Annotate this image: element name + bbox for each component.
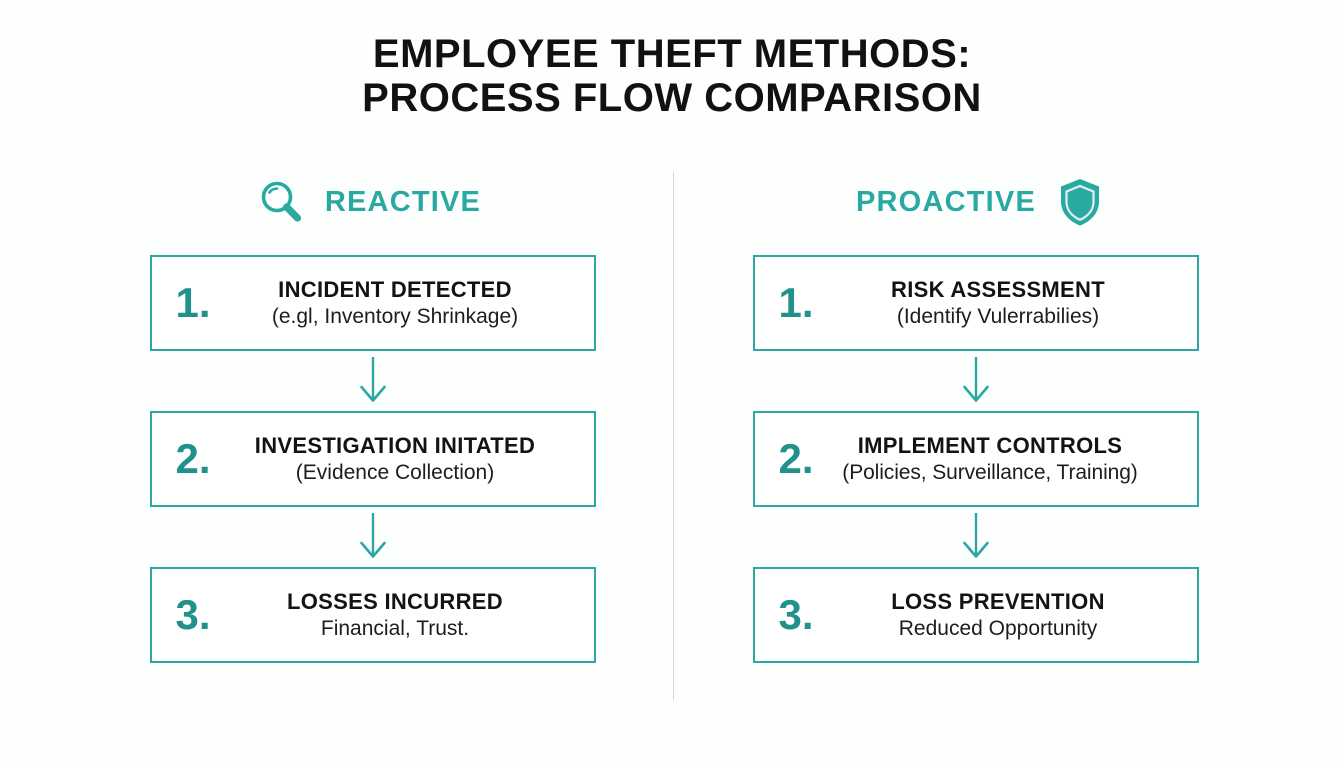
step-subtitle: (e.gl, Inventory Shrinkage) bbox=[210, 303, 580, 330]
step-box[interactable]: 2. INVESTIGATION INITATED (Evidence Coll… bbox=[150, 411, 596, 507]
shield-icon bbox=[1054, 176, 1106, 228]
step-title: RISK ASSESSMENT bbox=[813, 276, 1183, 303]
step-title: INVESTIGATION INITATED bbox=[210, 432, 580, 459]
step-text: INCIDENT DETECTED (e.gl, Inventory Shrin… bbox=[210, 276, 594, 330]
steps-list-proactive: 1. RISK ASSESSMENT (Identify Vulerrabili… bbox=[753, 255, 1199, 663]
column-header-label-reactive: REACTIVE bbox=[325, 186, 481, 219]
step-box[interactable]: 3. LOSSES INCURRED Financial, Trust. bbox=[150, 567, 596, 663]
down-arrow-icon bbox=[150, 351, 596, 411]
step-text: LOSSES INCURRED Financial, Trust. bbox=[210, 588, 594, 642]
step-box[interactable]: 3. LOSS PREVENTION Reduced Opportunity bbox=[753, 567, 1199, 663]
down-arrow-icon bbox=[753, 507, 1199, 567]
step-box[interactable]: 1. RISK ASSESSMENT (Identify Vulerrabili… bbox=[753, 255, 1199, 351]
step-text: LOSS PREVENTION Reduced Opportunity bbox=[813, 588, 1197, 642]
step-subtitle: (Policies, Surveillance, Training) bbox=[797, 459, 1183, 486]
steps-list-reactive: 1. INCIDENT DETECTED (e.gl, Inventory Sh… bbox=[150, 255, 596, 663]
down-arrow-icon bbox=[753, 351, 1199, 411]
step-subtitle: Reduced Opportunity bbox=[813, 615, 1183, 642]
step-subtitle: Financial, Trust. bbox=[210, 615, 580, 642]
column-proactive: PROACTIVE 1. RISK ASSESSMENT (Identify V… bbox=[753, 168, 1199, 236]
column-header-proactive: PROACTIVE bbox=[753, 168, 1199, 236]
column-reactive: REACTIVE 1. INCIDENT DETECTED (e.gl, Inv… bbox=[150, 168, 596, 236]
down-arrow-icon bbox=[150, 507, 596, 567]
title-line-1: EMPLOYEE THEFT METHODS: bbox=[0, 32, 1344, 76]
column-divider bbox=[673, 172, 674, 700]
step-text: INVESTIGATION INITATED (Evidence Collect… bbox=[210, 432, 594, 486]
step-text: IMPLEMENT CONTROLS (Policies, Surveillan… bbox=[797, 432, 1197, 486]
magnifier-icon bbox=[255, 176, 307, 228]
step-title: LOSS PREVENTION bbox=[813, 588, 1183, 615]
step-box[interactable]: 2. IMPLEMENT CONTROLS (Policies, Surveil… bbox=[753, 411, 1199, 507]
column-header-reactive: REACTIVE bbox=[150, 168, 596, 236]
step-box[interactable]: 1. INCIDENT DETECTED (e.gl, Inventory Sh… bbox=[150, 255, 596, 351]
step-title: IMPLEMENT CONTROLS bbox=[797, 432, 1183, 459]
step-title: LOSSES INCURRED bbox=[210, 588, 580, 615]
infographic-canvas: EMPLOYEE THEFT METHODS: PROCESS FLOW COM… bbox=[0, 0, 1344, 768]
step-title: INCIDENT DETECTED bbox=[210, 276, 580, 303]
title-line-2: PROCESS FLOW COMPARISON bbox=[0, 76, 1344, 120]
step-subtitle: (Identify Vulerrabilies) bbox=[813, 303, 1183, 330]
step-subtitle: (Evidence Collection) bbox=[210, 459, 580, 486]
step-text: RISK ASSESSMENT (Identify Vulerrabilies) bbox=[813, 276, 1197, 330]
page-title: EMPLOYEE THEFT METHODS: PROCESS FLOW COM… bbox=[0, 32, 1344, 120]
column-header-label-proactive: PROACTIVE bbox=[856, 186, 1036, 219]
